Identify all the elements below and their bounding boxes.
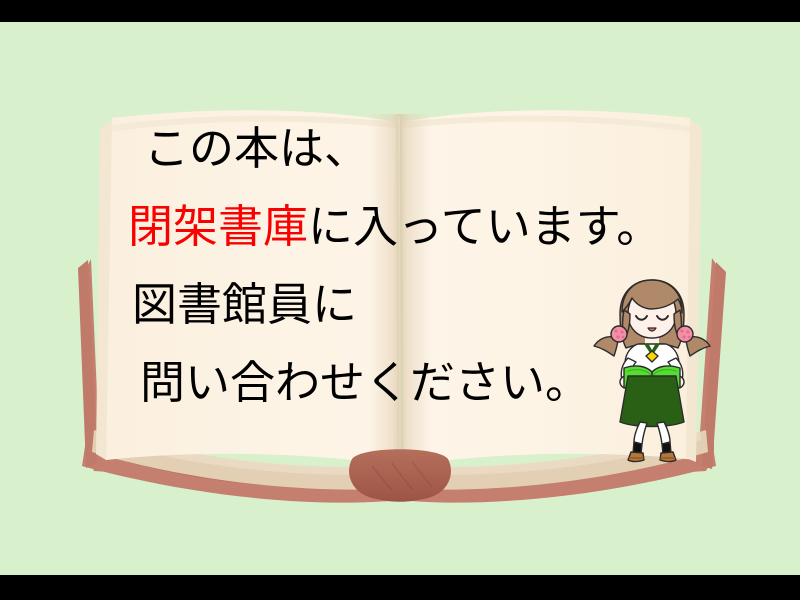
screenshot-canvas: この本は、 閉架書庫に入っています。 図書館員に 問い合わせください。 xyxy=(0,0,800,600)
message-line-4-text: 問い合わせください。 xyxy=(140,356,590,409)
left-shoe xyxy=(628,452,644,462)
right-shoe xyxy=(660,452,676,462)
right-hair-tie xyxy=(677,326,693,342)
mouth xyxy=(648,328,656,331)
message-line-2: 閉架書庫に入っています。 xyxy=(128,188,688,266)
letterbox-bottom xyxy=(0,575,800,600)
message-line-2-rest: に入っています。 xyxy=(308,200,661,253)
girl-reading-illustration xyxy=(592,272,712,464)
message-line-1-text: この本は、 xyxy=(144,122,369,175)
book-spine xyxy=(349,449,451,502)
skirt xyxy=(620,376,684,427)
left-hair-tie xyxy=(611,326,627,342)
message-line-3-text: 図書館員に xyxy=(132,278,357,331)
closed-stacks-highlight: 閉架書庫 xyxy=(128,200,308,253)
letterbox-top xyxy=(0,0,800,22)
message-line-1: この本は、 xyxy=(128,110,688,188)
